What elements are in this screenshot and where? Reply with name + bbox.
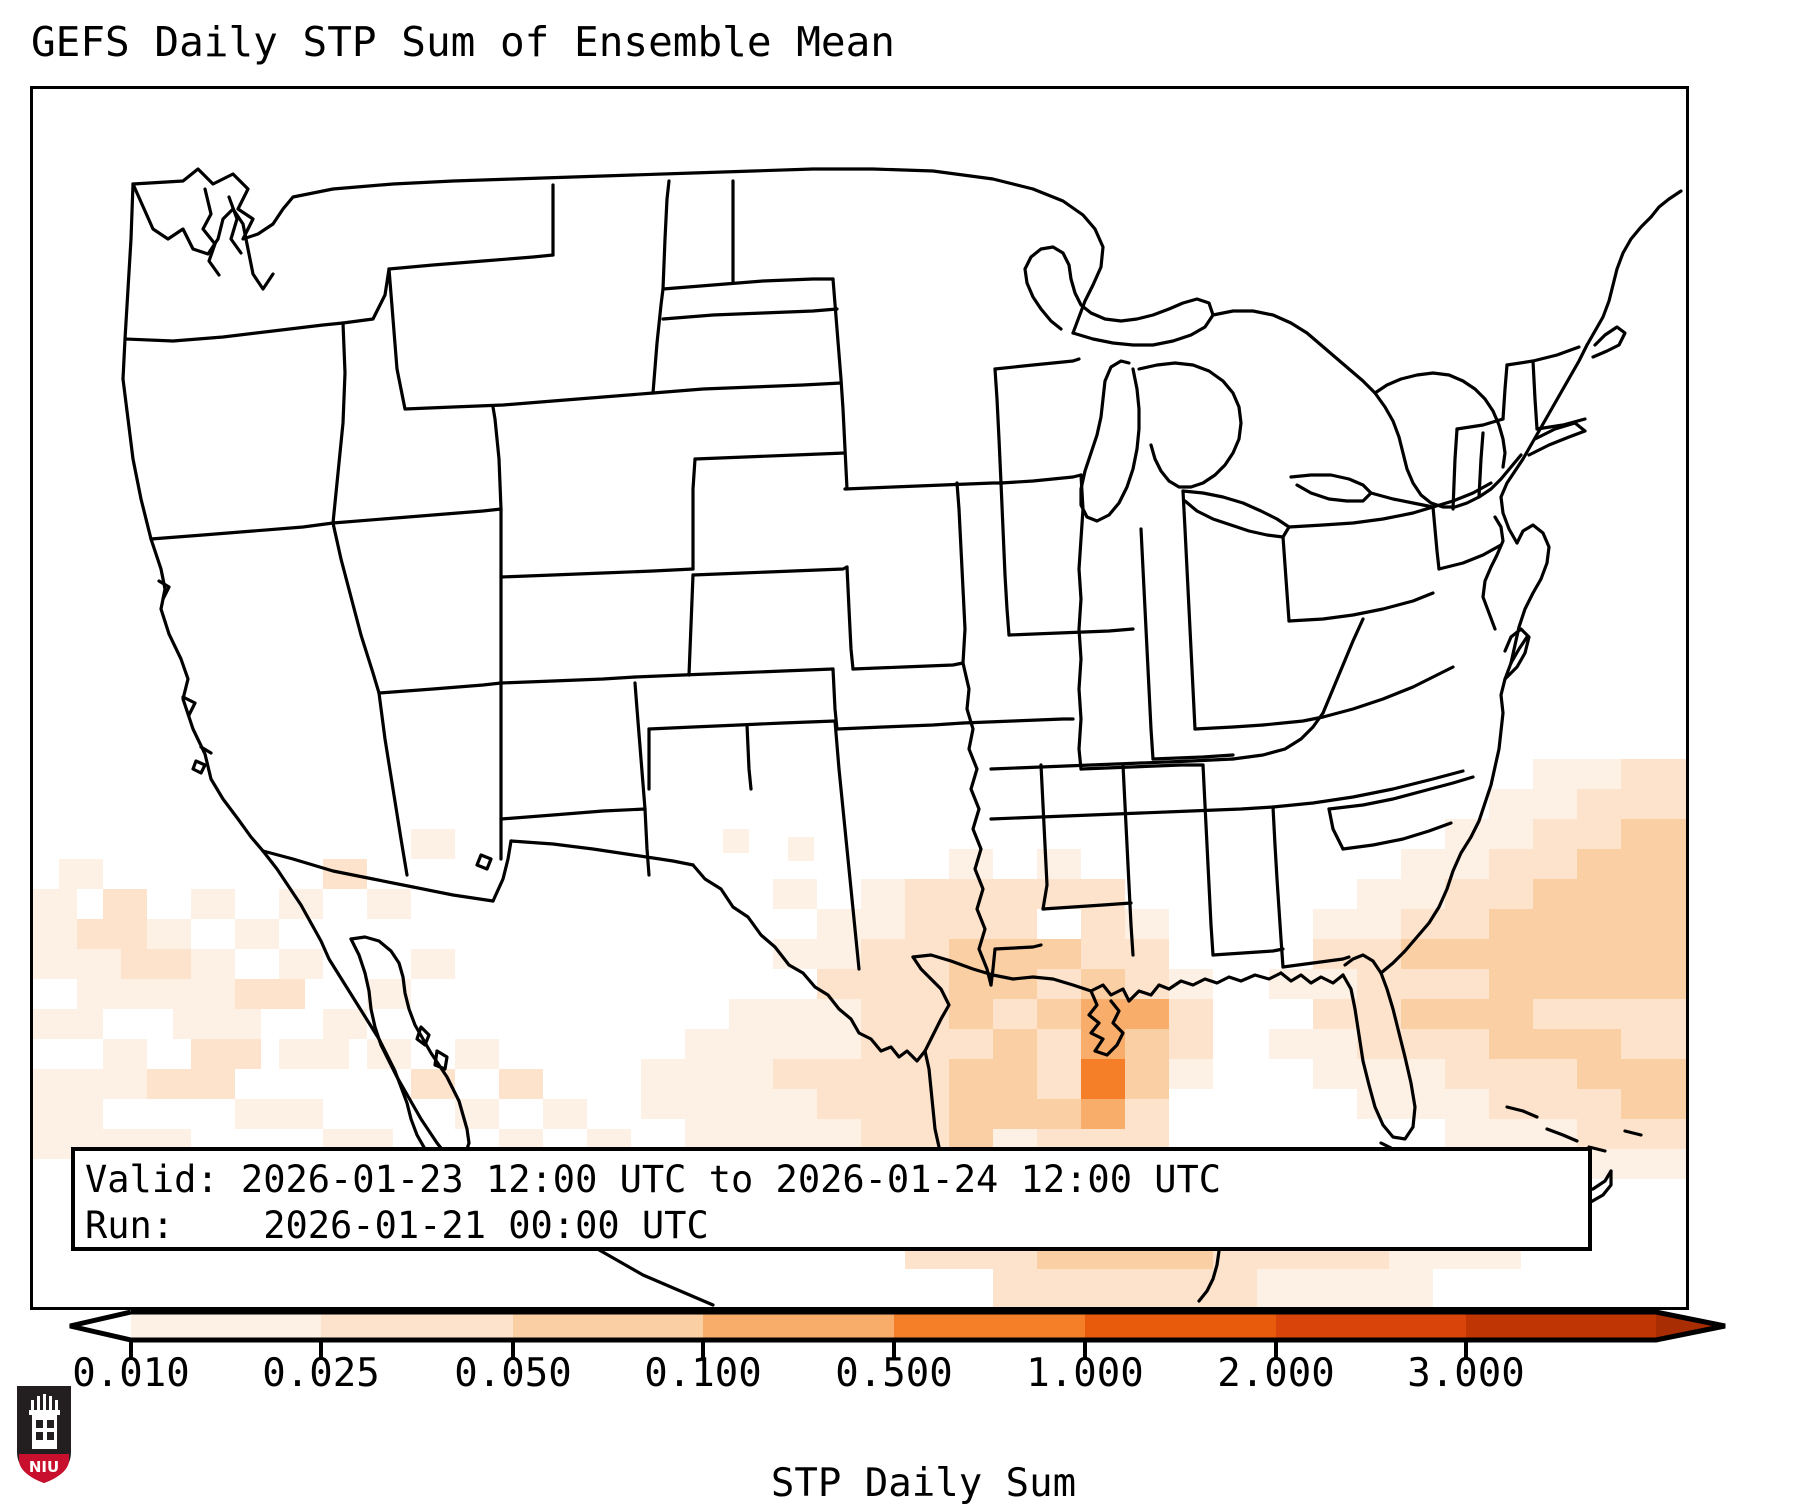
colorbar-tick-0: 0.010	[72, 1350, 189, 1398]
niu-logo: NIU	[14, 1382, 74, 1486]
colorbar-tick-3: 0.100	[644, 1350, 761, 1398]
colorbar-tick-4: 0.500	[835, 1350, 952, 1398]
valid-run-info-box: Valid: 2026-01-23 12:00 UTC to 2026-01-2…	[71, 1147, 1592, 1251]
colorbar-tick-6: 2.000	[1217, 1350, 1334, 1398]
colorbar-tick-5: 1.000	[1026, 1350, 1143, 1398]
niu-wordmark: NIU	[29, 1458, 59, 1476]
run-time-line: Run: 2026-01-21 00:00 UTC	[85, 1203, 1588, 1249]
page-title: GEFS Daily STP Sum of Ensemble Mean	[31, 16, 895, 68]
map-panel: Valid: 2026-01-23 12:00 UTC to 2026-01-2…	[30, 86, 1689, 1310]
colorbar-bands	[131, 1312, 1656, 1340]
colorbar-tick-7: 3.000	[1407, 1350, 1524, 1398]
colorbar-axis-title-text: STP Daily Sum	[771, 1461, 1076, 1506]
colorbar-tick-labels: 0.010 0.025 0.050 0.100 0.500 1.000 2.00…	[0, 1350, 1803, 1410]
colorbar-tick-2: 0.050	[454, 1350, 571, 1398]
colorbar-tick-1: 0.025	[262, 1350, 379, 1398]
valid-time-line: Valid: 2026-01-23 12:00 UTC to 2026-01-2…	[85, 1157, 1588, 1203]
colorbar-axis-title: STP Daily Sum	[0, 1409, 1803, 1509]
niu-tower-icon	[29, 1394, 60, 1449]
map-geography-outlines	[33, 89, 1686, 1307]
